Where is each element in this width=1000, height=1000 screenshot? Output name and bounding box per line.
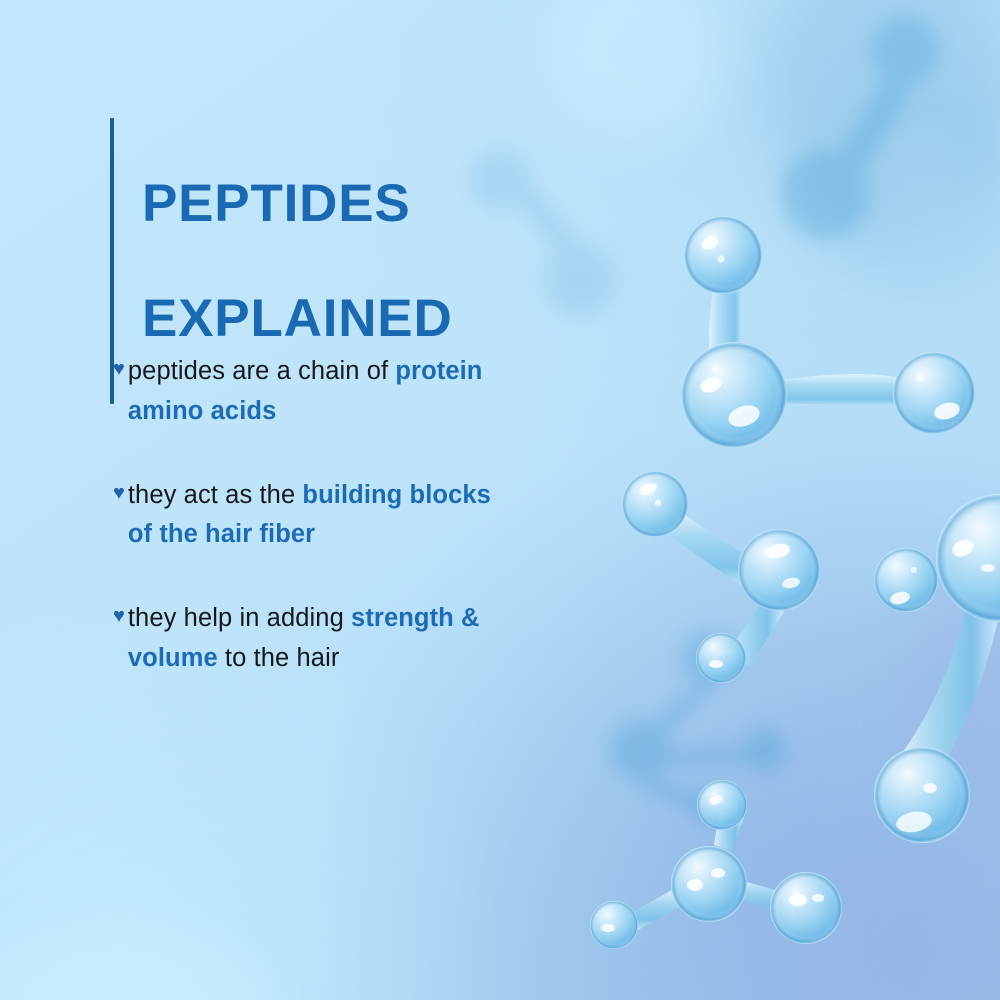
bullet-text-2: they act as the building blocks of the h…	[128, 476, 513, 556]
list-item: ♥ they help in adding strength & volume …	[113, 599, 513, 679]
peptides-explained-graphic: PEPTIDES EXPLAINED ♥ peptides are a chai…	[0, 0, 1000, 1000]
bullet-text-3: they help in adding strength & volume to…	[128, 599, 513, 679]
title-line-1: PEPTIDES	[142, 175, 453, 232]
title-line-2: EXPLAINED	[142, 290, 453, 347]
bullet-2-part-0: they act as the	[128, 481, 303, 509]
heart-icon: ♥	[113, 606, 125, 626]
heart-icon: ♥	[113, 483, 125, 503]
list-item: ♥ they act as the building blocks of the…	[113, 476, 513, 556]
bullet-text-1: peptides are a chain of protein amino ac…	[128, 352, 513, 432]
bullet-list: ♥ peptides are a chain of protein amino …	[113, 352, 513, 679]
bullet-1-part-0: peptides are a chain of	[128, 357, 396, 385]
heart-icon: ♥	[113, 359, 125, 379]
list-item: ♥ peptides are a chain of protein amino …	[113, 352, 513, 432]
bullet-3-part-0: they help in adding	[128, 604, 351, 632]
bullet-3-part-2: to the hair	[218, 644, 340, 672]
